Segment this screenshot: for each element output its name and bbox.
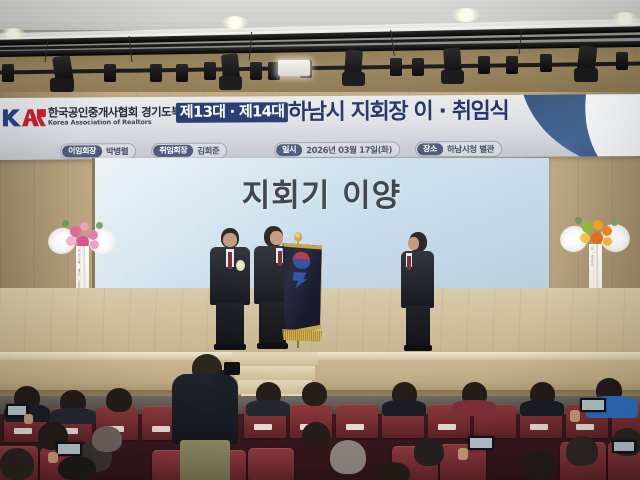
person-necktie [278,251,282,266]
stage-light-yoke [441,70,464,84]
event-banner: 한국공인중개사협회 경기도북부회 Korea Association of Re… [0,94,640,160]
person-trousers [259,302,286,347]
flower-bloom [580,233,590,243]
flower-bloom [80,222,89,231]
audience-shoulders [382,400,426,416]
flower-foliage [62,220,69,227]
par-can-icon [176,64,188,82]
seat-number-tag [152,426,170,432]
banner-title: 하남시 지회장 이 · 취임식 [288,98,509,127]
banner-meta-value: 박병렬 [106,145,128,157]
audience-hand [458,448,468,460]
person-shoes [214,344,246,350]
par-can-icon [250,62,262,80]
person-necktie [407,256,411,270]
stage-light-yoke [219,76,242,90]
flower-bloom [603,237,612,246]
downlight-icon [612,12,638,25]
par-can-icon [412,58,424,76]
seat-number-tag [254,424,272,430]
person-outgoing-president [208,228,252,350]
seat-number-tag [14,428,32,434]
person-face [223,233,237,247]
par-can-icon [506,56,518,74]
ceremony-photograph: 한국공인중개사협회 경기도북부회 Korea Association of Re… [0,0,640,480]
person-trousers [216,303,244,348]
audience-shoulders [246,400,290,416]
banner-meta-label: 취임회장 [153,145,193,157]
seat-number-tag [346,424,364,430]
phone-screen [8,406,26,415]
phone-screen [614,442,634,451]
banner-meta-value: 하남시청 별관 [447,143,494,155]
stage-light-yoke [574,68,598,82]
person-attendant [398,232,436,352]
par-can-icon [390,58,402,76]
audience-seat [248,448,294,480]
par-can-icon [616,52,628,70]
flower-bloom [602,226,612,236]
audience-head [566,436,598,466]
person-trousers [406,306,430,348]
flower-foliage [611,219,618,226]
photographer-standing [172,354,240,480]
seat-number-tag [530,424,548,430]
person-face [408,237,419,250]
downlight-icon [222,16,248,29]
ceiling-projector [278,60,310,76]
banner-meta-label: 장소 [417,143,443,155]
person-shoes [257,343,288,349]
banner-meta-row-right: 일시 2026년 03월 17일(화) 장소 하남시청 별관 [274,136,512,158]
audience-head [376,462,410,480]
banner-meta-value: 김희준 [197,145,219,157]
kar-logo-icon [2,106,46,130]
audience-head [414,438,444,466]
audience-head [58,456,96,480]
flower-bloom [582,222,593,233]
par-can-icon [150,64,162,82]
person-corsage [236,260,245,271]
par-can-icon [2,64,14,82]
photographer-trousers [180,440,230,480]
audience-hand [570,410,580,422]
audience-head [330,440,366,474]
audience-seat [336,404,378,438]
par-can-icon [104,64,116,82]
flower-bloom [66,236,76,246]
slide-title-text: 지회기 이양 [94,170,549,215]
phone-screen [58,444,80,454]
camera-icon [224,362,240,375]
audience-head [302,422,330,448]
smartphone-recording [56,442,82,456]
audience-shoulders [452,400,496,416]
audience-shoulders [520,400,564,416]
par-can-icon [204,62,216,80]
audience-head [106,388,132,412]
audience-head [524,450,556,480]
stage-step [235,366,315,381]
audience-hand [48,452,58,463]
banner-meta-value: 2026년 03월 17일(화) [306,144,392,157]
seat-number-tag [576,424,594,430]
downlight-icon [452,8,480,22]
banner-term-badge: 제13대 · 제14대 [176,102,288,123]
smartphone-recording [468,436,494,450]
banner-meta-item: 일시 2026년 03월 17일(화) [274,142,400,159]
smartphone-recording [612,440,636,453]
audience-head [0,448,34,480]
flower-bloom [88,230,98,240]
person-shoes [404,345,432,351]
person-face [270,231,283,245]
flag-gold-fringe [282,329,323,342]
par-can-icon [540,54,552,72]
audience-hand [24,414,33,424]
flower-bloom [90,240,99,249]
flower-foliage [96,222,103,229]
smartphone-recording [580,398,606,412]
stage-step [232,352,318,367]
phone-screen [470,438,492,448]
audience-head [302,382,327,406]
stage-light-yoke [342,72,365,86]
banner-meta-item: 장소 하남시청 별관 [415,141,502,158]
stage-light-yoke [50,78,74,92]
audience-head [92,426,122,452]
banner-meta-label: 이임회장 [62,145,102,157]
banner-meta-label: 일시 [276,144,302,156]
flower-bloom [591,232,603,244]
seat-number-tag [438,424,456,430]
phone-screen [582,400,604,410]
association-name-en: Korea Association of Realtors [48,118,152,127]
banner-meta-item: 취임회장 김희준 [151,143,227,159]
par-can-icon [478,56,490,74]
person-necktie [228,252,232,269]
flower-foliage [575,217,582,224]
